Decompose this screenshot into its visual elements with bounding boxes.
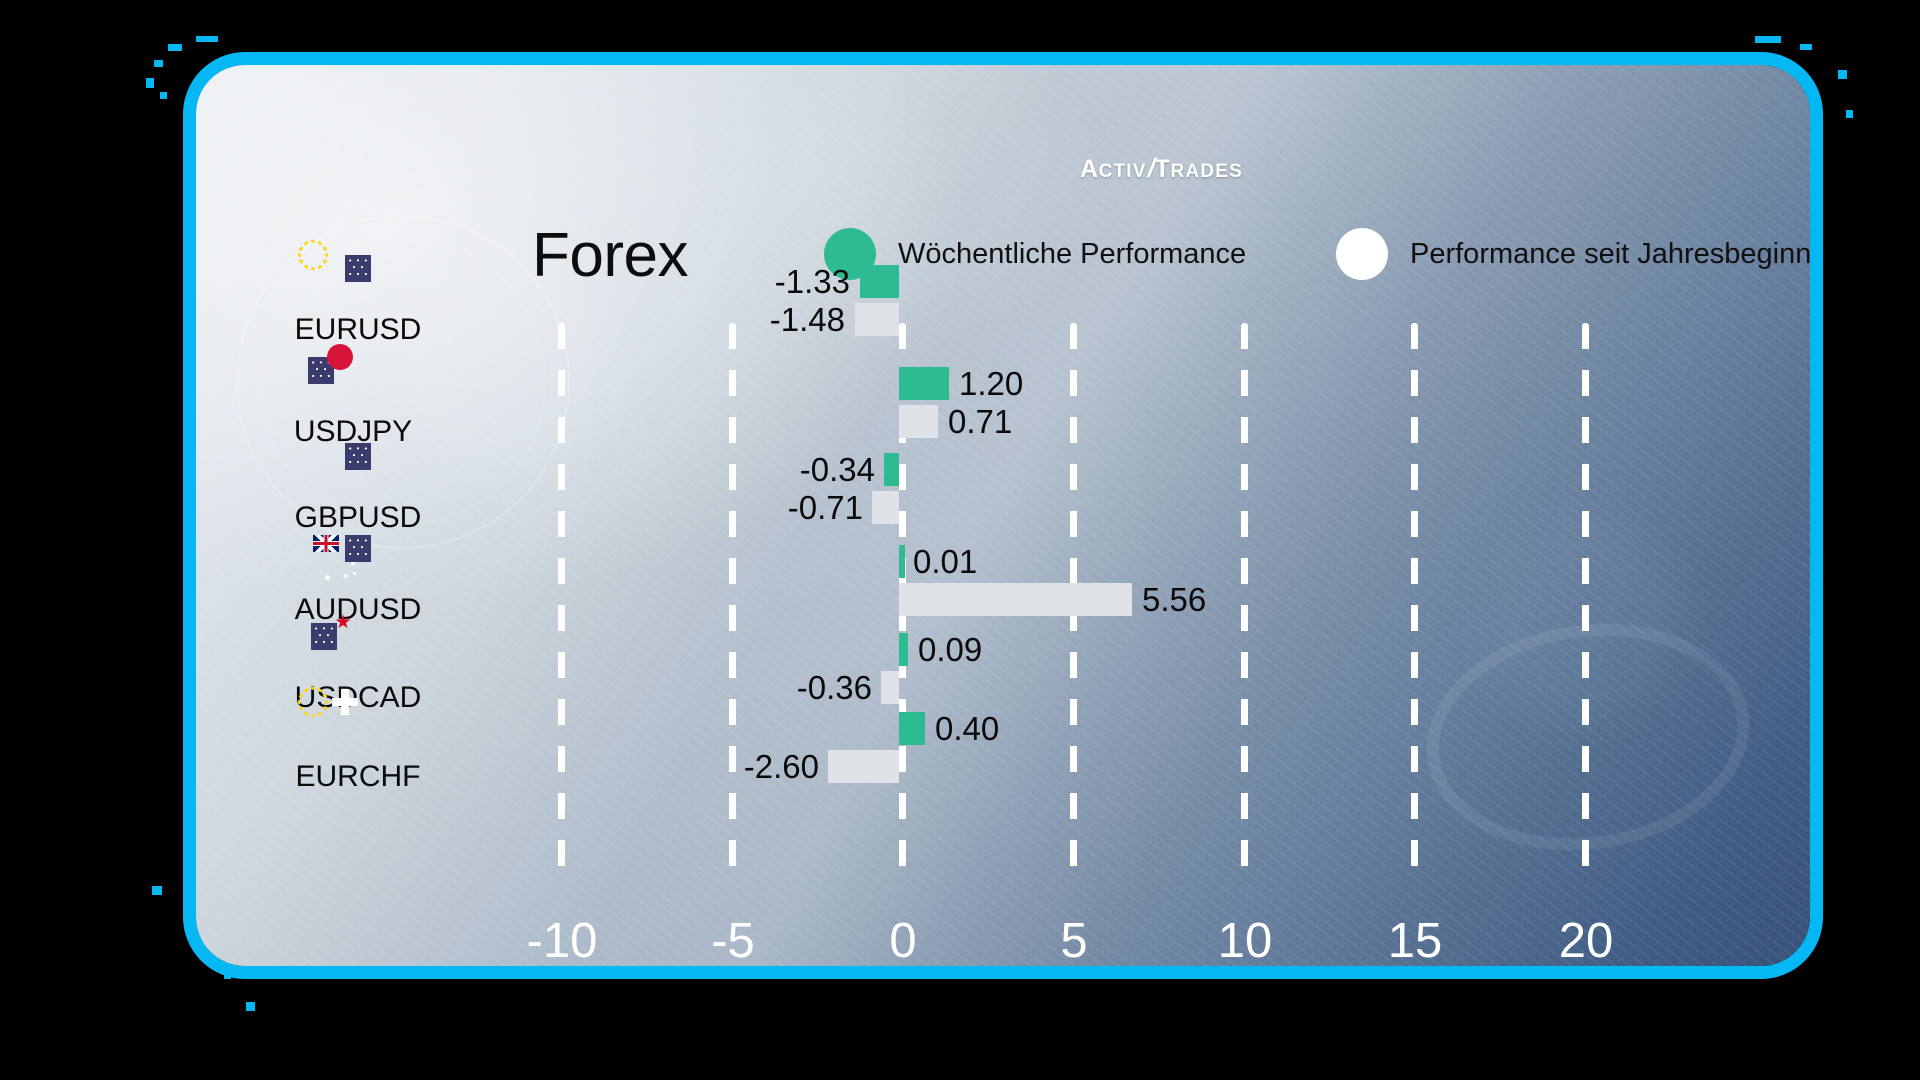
decor-speck xyxy=(160,92,167,99)
bar-ytd-usdcad xyxy=(881,671,899,704)
bar-value-weekly-usdcad: 0.09 xyxy=(918,633,982,666)
bar-value-weekly-eurusd: -1.33 xyxy=(775,265,850,298)
pair-label-eurusd: EURUSD xyxy=(295,313,422,347)
decor-speck xyxy=(1838,70,1847,79)
decor-speck xyxy=(146,78,154,88)
pair-flags-gbpusd xyxy=(313,443,399,493)
pair-label-gbpusd: GBPUSD xyxy=(295,501,422,535)
xtick-label: -5 xyxy=(711,913,755,969)
decor-speck xyxy=(1755,36,1781,43)
forex-performance-card: ACTIV/TRADES Forex Wöchentliche Performa… xyxy=(183,52,1823,979)
bar-weekly-audusd xyxy=(899,545,905,578)
bar-value-weekly-eurchf: 0.40 xyxy=(935,712,999,745)
pair-flags-eurchf xyxy=(313,702,399,752)
bar-value-weekly-usdjpy: 1.20 xyxy=(959,367,1023,400)
decor-speck xyxy=(246,1002,255,1011)
bar-chart: -10 -5 0 5 10 15 20 % Prozentuale Perfor… xyxy=(196,65,1823,979)
pair-label-audusd: AUDUSD xyxy=(295,593,422,627)
decor-speck xyxy=(152,886,162,895)
decor-speck xyxy=(1846,110,1853,118)
bar-ytd-eurusd xyxy=(855,303,899,336)
screenshot-root: ACTIV/TRADES Forex Wöchentliche Performa… xyxy=(0,0,1920,1080)
bar-ytd-gbpusd xyxy=(872,491,899,524)
xtick-label: 20 xyxy=(1559,913,1614,969)
bar-weekly-eurusd xyxy=(860,265,899,298)
xtick-label: 0 xyxy=(889,913,916,969)
bar-weekly-usdjpy xyxy=(899,367,949,400)
bar-ytd-audusd xyxy=(899,583,1132,616)
xtick-label: -10 xyxy=(527,913,598,969)
chart-row: EURCHF 0.40 -2.60 xyxy=(196,702,1823,798)
bar-value-ytd-usdjpy: 0.71 xyxy=(948,405,1012,438)
bar-weekly-usdcad xyxy=(899,633,908,666)
bar-weekly-gbpusd xyxy=(884,453,899,486)
bar-weekly-eurchf xyxy=(899,712,925,745)
bar-value-ytd-gbpusd: -0.71 xyxy=(788,491,863,524)
decor-speck xyxy=(154,60,163,67)
bar-value-weekly-gbpusd: -0.34 xyxy=(800,453,875,486)
pair-label-eurchf: EURCHF xyxy=(296,760,421,794)
bar-value-ytd-audusd: 5.56 xyxy=(1142,583,1206,616)
decor-speck xyxy=(196,36,218,42)
chart-row: USDJPY 1.20 0.71 xyxy=(196,357,1823,453)
bar-ytd-usdjpy xyxy=(899,405,938,438)
decor-speck xyxy=(168,44,182,51)
bar-ytd-eurchf xyxy=(828,750,899,783)
pair-flags-usdjpy xyxy=(308,357,394,407)
bar-value-ytd-eurchf: -2.60 xyxy=(744,750,819,783)
chart-row: EURUSD -1.33 -1.48 xyxy=(196,255,1823,351)
pair-flags-eurusd xyxy=(313,255,399,305)
xtick-label: 15 xyxy=(1388,913,1443,969)
chart-row: AUDUSD 0.01 5.56 xyxy=(196,535,1823,631)
decor-speck xyxy=(1800,44,1812,50)
pair-flags-audusd xyxy=(313,535,399,585)
bar-value-ytd-usdcad: -0.36 xyxy=(797,671,872,704)
bar-value-weekly-audusd: 0.01 xyxy=(913,545,977,578)
bar-value-ytd-eurusd: -1.48 xyxy=(770,303,845,336)
chart-row: GBPUSD -0.34 -0.71 xyxy=(196,443,1823,539)
xtick-label: 10 xyxy=(1218,913,1273,969)
xtick-label: 5 xyxy=(1060,913,1087,969)
pair-flags-usdcad: ★ xyxy=(311,623,397,673)
